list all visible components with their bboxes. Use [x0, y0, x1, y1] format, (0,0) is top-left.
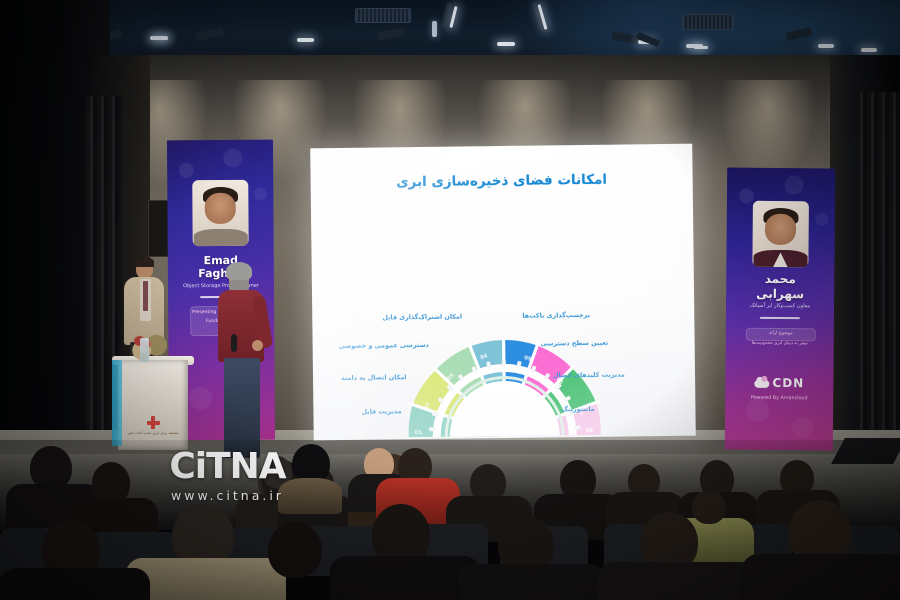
- face-shape: [765, 214, 797, 245]
- ceiling-lamp: [297, 38, 314, 42]
- screen-sheen: [310, 144, 696, 441]
- cloud-icon: [754, 379, 769, 387]
- ceiling-vent: [682, 14, 734, 30]
- face-shape: [205, 193, 237, 224]
- speaker-right-hand: [252, 340, 263, 351]
- banner-right-powered-by: Powered By Arvancloud: [725, 396, 833, 402]
- ceiling-lamp: [497, 42, 515, 46]
- banner-right: محمد سهرابی معاون کسب‌وکار ابر آسیاتک مو…: [725, 168, 835, 451]
- banner-right-name-line2: سهرابی: [726, 287, 834, 302]
- banner-left-role: Object Storage Product Owner: [168, 283, 274, 290]
- audience-shoulders-front: [0, 568, 150, 600]
- podium-logo: همیشه برای ابری شدن آماده باش: [118, 416, 188, 436]
- watermark: CiTNA www.citna.ir: [140, 449, 315, 503]
- audience-shoulders-front: [742, 554, 900, 600]
- banner-left-name-line2: Faghihi: [168, 267, 274, 281]
- podium: همیشه برای ابری شدن آماده باش: [118, 360, 188, 450]
- photo-scene: امکانات فضای ذخیره‌سازی ابری: [0, 0, 900, 600]
- speaker-photo-right: [752, 201, 809, 267]
- flower-arrangement: [128, 330, 174, 364]
- ceiling-lamp: [154, 37, 168, 40]
- audience-area: [0, 440, 900, 600]
- projection-screen: امکانات فضای ذخیره‌سازی ابری: [310, 144, 696, 441]
- water-bottle: [140, 338, 149, 362]
- audience-head-front: [268, 522, 322, 578]
- banner-left-name-line1: Emad: [168, 254, 274, 268]
- medical-plus-icon: [147, 416, 160, 429]
- watermark-brand: CiTNA: [140, 449, 315, 485]
- cdn-logo-text: CDN: [772, 376, 804, 390]
- audience-shoulders-front: [458, 564, 606, 600]
- watermark-url: www.citna.ir: [140, 488, 315, 503]
- microphone: [231, 334, 237, 352]
- speaker-left-tie: [143, 281, 148, 311]
- shoulders-shape: [194, 229, 248, 247]
- audience-shoulders-front: [126, 558, 286, 600]
- curtain-right: [856, 92, 900, 442]
- speaker-left-hair: [135, 257, 154, 267]
- ceiling-lamp: [432, 21, 437, 37]
- banner-right-name-line1: محمد: [726, 272, 834, 287]
- ceiling-lamp: [694, 46, 708, 49]
- audience-head: [692, 490, 726, 524]
- ceiling-lamp: [861, 48, 877, 52]
- ceiling-vent: [355, 8, 411, 23]
- audience-shoulders-front: [598, 562, 750, 600]
- banner-right-role: معاون کسب‌وکار ابر آسیاتک: [726, 303, 834, 310]
- speaker-right-hair: [226, 262, 252, 280]
- podium-accent-strip: [112, 360, 122, 446]
- banner-right-chip-text: سفر به دنیای ابری محدودیت‌ها: [740, 339, 820, 351]
- speaker-photo-left: [192, 180, 248, 246]
- podium-logo-text: همیشه برای ابری شدن آماده باش: [118, 431, 188, 436]
- banner-right-logo: CDN: [725, 376, 833, 391]
- ceiling-lamp: [818, 44, 834, 48]
